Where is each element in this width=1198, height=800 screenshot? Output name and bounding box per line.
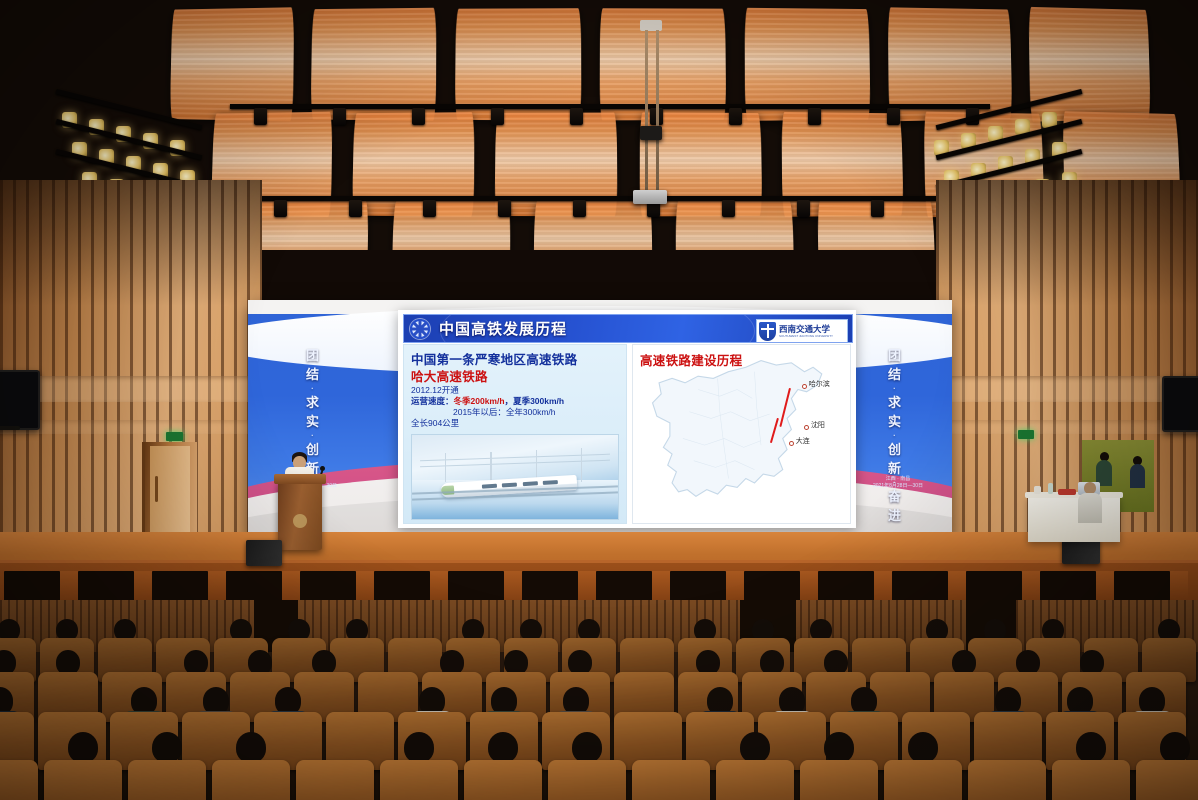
audience-seat-r3-11[interactable] [884,760,962,800]
train-window-1 [481,484,496,489]
catenary-pole-4 [581,448,583,482]
lectern-emblem [293,514,307,528]
ceiling-downlight-0-7 [808,108,821,125]
event-subtitle-right: 江西 · 南昌 2021年8月28日—30日 [858,476,938,490]
audience-seat-r3-14[interactable] [1136,760,1198,800]
acoustic-panel-r2-c1 [392,200,511,250]
ceiling-downlight-1-7 [797,200,810,217]
rear-slat-48 [384,600,386,652]
ceiling-downlight-1-3 [498,200,511,217]
detail-line-1: 2012.12开通 [411,385,621,396]
audience-seat-r3-5[interactable] [380,760,458,800]
audience-seat-r3-8[interactable] [632,760,710,800]
city-label-1: 沈阳 [811,420,825,430]
audience-head [1076,732,1107,764]
slide-detail-text: 2012.12开通 运营速度：冬季200km/h，夏季300km/h 2015年… [411,385,621,429]
motto-char-0: 团 [290,346,336,365]
audience-head [488,732,519,764]
slide-subheading: 哈大高速铁路 [411,366,488,385]
audience-area [0,600,1198,800]
ceiling-downlight-1-2 [423,200,436,217]
motto-char-3: 实 [872,412,918,431]
detail-line-2: 运营速度：冬季200km/h，夏季300km/h [411,396,621,407]
audience-seat-r3-10[interactable] [800,760,878,800]
audience-seat-r3-1[interactable] [44,760,122,800]
acoustic-panel-r2-c2 [534,201,653,250]
motto-char-0: 团 [872,346,918,365]
winter-speed: 冬季200km/h [454,396,505,406]
event-date-right: 2021年8月28日—30日 [858,483,938,490]
rear-slat-19 [152,600,154,652]
university-name-block: 西南交通大学 SOUTHWEST JIAOTONG UNIVERSITY [779,325,833,338]
audience-seat-r3-7[interactable] [548,760,626,800]
audience-seat-r3-4[interactable] [296,760,374,800]
motto-char-4: 创 [872,440,918,459]
crew-2-body [1130,464,1145,488]
train-photo [411,434,619,520]
rear-slat-135 [1080,600,1082,652]
audience-head [68,732,99,764]
audience-seat-r3-3[interactable] [212,760,290,800]
header-arc-decoration [440,314,756,343]
motto-separator: · [872,431,918,440]
ceiling-downlight-0-0 [254,108,267,125]
ceiling-downlight-1-6 [722,200,735,217]
detail-line-4: 全长904公里 [411,418,621,429]
catenary-pole-2 [490,452,492,482]
audience-seat-r3-13[interactable] [1052,760,1130,800]
ceiling-downlight-1-4 [573,200,586,217]
lectern-top [274,474,326,484]
audience-seat-r3-0[interactable] [0,760,38,800]
projector-pole-left [645,30,648,198]
projector-unit [633,190,667,204]
motto-char-7: 进 [872,506,918,525]
city-label-0: 哈尔滨 [809,379,830,389]
podium-microphone-head [320,466,325,471]
train-nose [441,485,455,495]
event-location-right: 江西 · 南昌 [858,476,938,483]
motto-char-3: 实 [290,412,336,431]
crew-member-1 [1096,452,1112,486]
train-window-2 [502,482,517,487]
ceiling-downlight-1-8 [871,200,884,217]
projector-junction-box [640,126,662,140]
ceiling-downlight-0-6 [729,108,742,125]
audience-head [236,732,267,764]
rear-slat-77 [616,600,618,652]
train-window-3 [522,481,537,486]
table-nameplate [1058,489,1076,495]
china-map-outline [633,345,850,523]
table-cup [1034,486,1041,494]
presentation-slide: 中国高铁发展历程 西南交通大学 SOUTHWEST JIAOTONG UNIVE… [398,310,856,528]
university-name-en: SOUTHWEST JIAOTONG UNIVERSITY [779,334,833,338]
acoustic-panel-r0-c6 [1028,7,1150,122]
audience-seat-r3-12[interactable] [968,760,1046,800]
motto-char-2: 求 [872,393,918,412]
motto-char-2: 求 [290,393,336,412]
lectern [278,480,322,550]
speed-separator: ， [505,396,514,406]
acoustic-panel-r2-c3 [676,200,795,250]
motto-char-1: 结 [872,365,918,384]
ceiling-downlight-0-1 [333,108,346,125]
motto-banner-right: 团结·求实·创新·奋进 [872,346,918,525]
audience-seat-r3-2[interactable] [128,760,206,800]
audience-head [404,732,435,764]
detail-line-3-row: 2015年以后：全年300km/h [411,407,621,418]
audience-seat-r3-6[interactable] [464,760,542,800]
slide-body: 中国第一条严寒地区高速铁路 哈大高速铁路 2012.12开通 运营速度：冬季20… [403,344,851,524]
ceiling-downlight-0-8 [887,108,900,125]
auditorium-scene: 团结·求实·创新·奋进 团结·求实·创新·奋进 江西 · 南昌 2021年8月2… [0,0,1198,800]
motto-separator: · [290,431,336,440]
ceiling-downlight-0-3 [491,108,504,125]
university-logo: 西南交通大学 SOUTHWEST JIAOTONG UNIVERSITY [756,319,848,343]
operator-body [1078,493,1102,523]
ceiling-downlight-1-0 [274,200,287,217]
operator-table [1028,496,1120,542]
ceiling-downlight-0-4 [570,108,583,125]
rear-slat-106 [848,600,850,652]
slide-header: 中国高铁发展历程 西南交通大学 SOUTHWEST JIAOTONG UNIVE… [403,314,853,343]
audience-head [740,732,771,764]
gear-snowflake-icon [410,319,430,339]
crew-member-2 [1130,456,1145,488]
audience-head [824,732,855,764]
table-bottle [1048,483,1053,494]
speed-label: 运营速度： [411,396,454,406]
seated-operator [1078,482,1102,522]
projector-pole-right [656,30,659,198]
catenary-pole-1 [445,453,447,482]
university-name-cn: 西南交通大学 [779,325,833,334]
audience-head [572,732,603,764]
audience-head [908,732,939,764]
ceiling-downlight-0-2 [412,108,425,125]
summer-speed: 夏季300km/h [513,396,564,406]
slide-right-panel: 高速铁路建设历程 哈尔滨沈阳大连 [632,344,851,524]
audience-head [152,732,183,764]
audience-seat-r3-9[interactable] [716,760,794,800]
ceiling-downlight-1-1 [349,200,362,217]
audience-head [1160,732,1191,764]
motto-char-1: 结 [290,365,336,384]
motto-separator: · [290,384,336,393]
detail-line-3: 2015年以后：全年300km/h [453,407,556,417]
city-label-2: 大连 [796,436,810,446]
stage-floor-monitor-left [246,540,282,566]
motto-separator: · [872,384,918,393]
china-map: 哈尔滨沈阳大连 [633,345,850,523]
slide-left-panel: 中国第一条严寒地区高速铁路 哈大高速铁路 2012.12开通 运营速度：冬季20… [403,344,627,524]
shield-crest-icon [759,322,776,341]
train-window-4 [543,480,558,485]
